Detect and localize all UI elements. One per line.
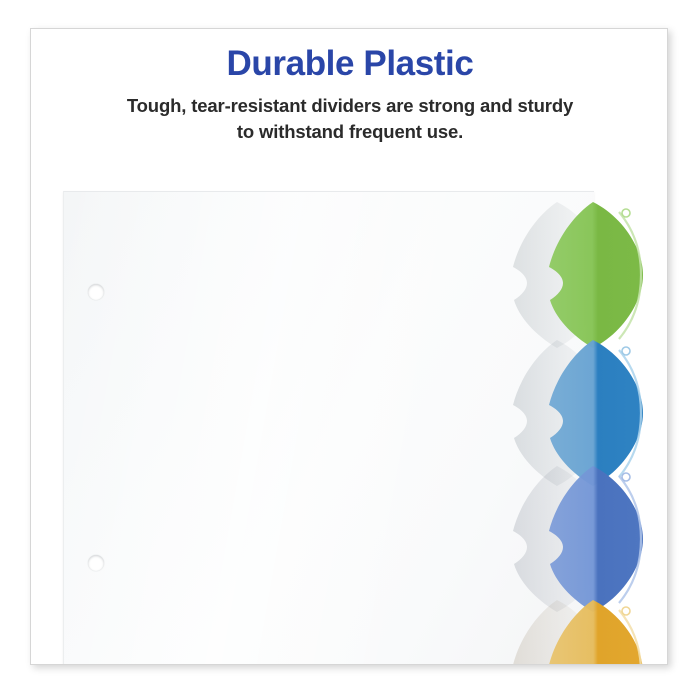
punch-hole-bottom: [88, 555, 104, 571]
tab-amber-highlight: [619, 610, 641, 665]
tab-blue-corner-detail: [622, 347, 630, 355]
product-image-card: Durable Plastic Tough, tear-resistant di…: [30, 28, 668, 665]
heading-block: Durable Plastic Tough, tear-resistant di…: [31, 45, 668, 145]
tab-royal-highlight: [619, 476, 641, 603]
tab-amber-corner-detail: [622, 607, 630, 615]
page-subtitle: Tough, tear-resistant dividers are stron…: [70, 93, 630, 146]
page-subtitle-line-1: Tough, tear-resistant dividers are stron…: [127, 95, 573, 116]
tab-green-highlight: [619, 212, 641, 339]
sheet-gloss-sheen: [64, 192, 594, 665]
punch-hole-top: [88, 284, 104, 300]
page-title: Durable Plastic: [31, 45, 668, 84]
tab-green-corner-detail: [622, 209, 630, 217]
page-subtitle-line-2: to withstand frequent use.: [237, 121, 463, 142]
tab-blue-highlight: [619, 350, 641, 477]
tab-royal-corner-detail: [622, 473, 630, 481]
divider-sheet: [63, 191, 594, 665]
